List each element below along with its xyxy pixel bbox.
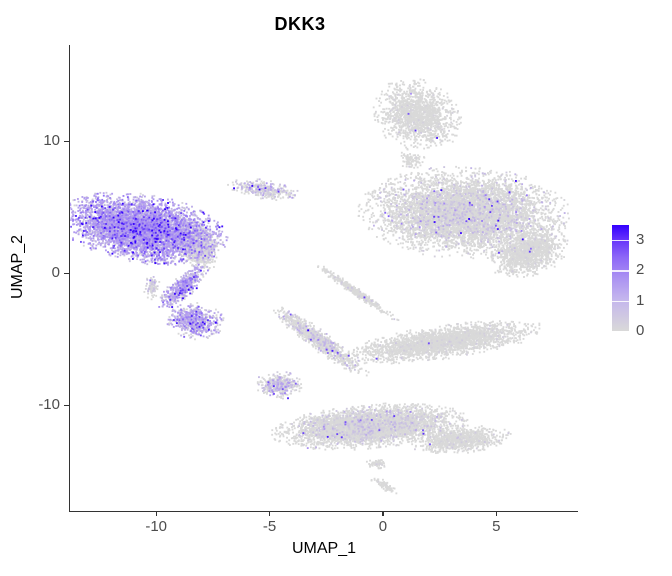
x-tick-mark [382, 511, 383, 516]
y-axis-title: UMAP_2 [9, 167, 27, 367]
page-title: DKK3 [0, 14, 600, 35]
y-tick-mark [64, 141, 69, 142]
colorbar-tick-label: 2 [636, 262, 644, 277]
y-tick-label: 10 [14, 132, 60, 149]
umap-feature-plot: DKK3 100-10 -10-505 UMAP_1 UMAP_2 3210 [0, 0, 672, 576]
colorbar-tick-label: 1 [636, 293, 644, 308]
y-tick-mark [64, 273, 69, 274]
colorbar-tick-label: 0 [636, 323, 644, 338]
x-tick-label: 5 [471, 518, 521, 535]
colorbar-tick-mark [612, 240, 629, 241]
colorbar-tick-mark [612, 331, 629, 332]
x-tick-label: -5 [245, 518, 295, 535]
y-tick-mark [64, 405, 69, 406]
x-tick-mark [496, 511, 497, 516]
colorbar-tick-mark [612, 301, 629, 302]
x-tick-label: -10 [131, 518, 181, 535]
x-axis-line [69, 511, 578, 512]
x-axis-title: UMAP_1 [70, 540, 578, 558]
scatter-canvas[interactable] [70, 45, 578, 511]
x-tick-mark [269, 511, 270, 516]
colorbar-tick-label: 3 [636, 232, 644, 247]
plot-panel[interactable] [70, 45, 578, 511]
y-tick-label: -10 [14, 396, 60, 413]
colorbar-legend[interactable]: 3210 [612, 222, 672, 337]
x-tick-label: 0 [358, 518, 408, 535]
y-axis-line [69, 45, 70, 512]
x-tick-mark [156, 511, 157, 516]
colorbar-tick-mark [612, 270, 629, 271]
